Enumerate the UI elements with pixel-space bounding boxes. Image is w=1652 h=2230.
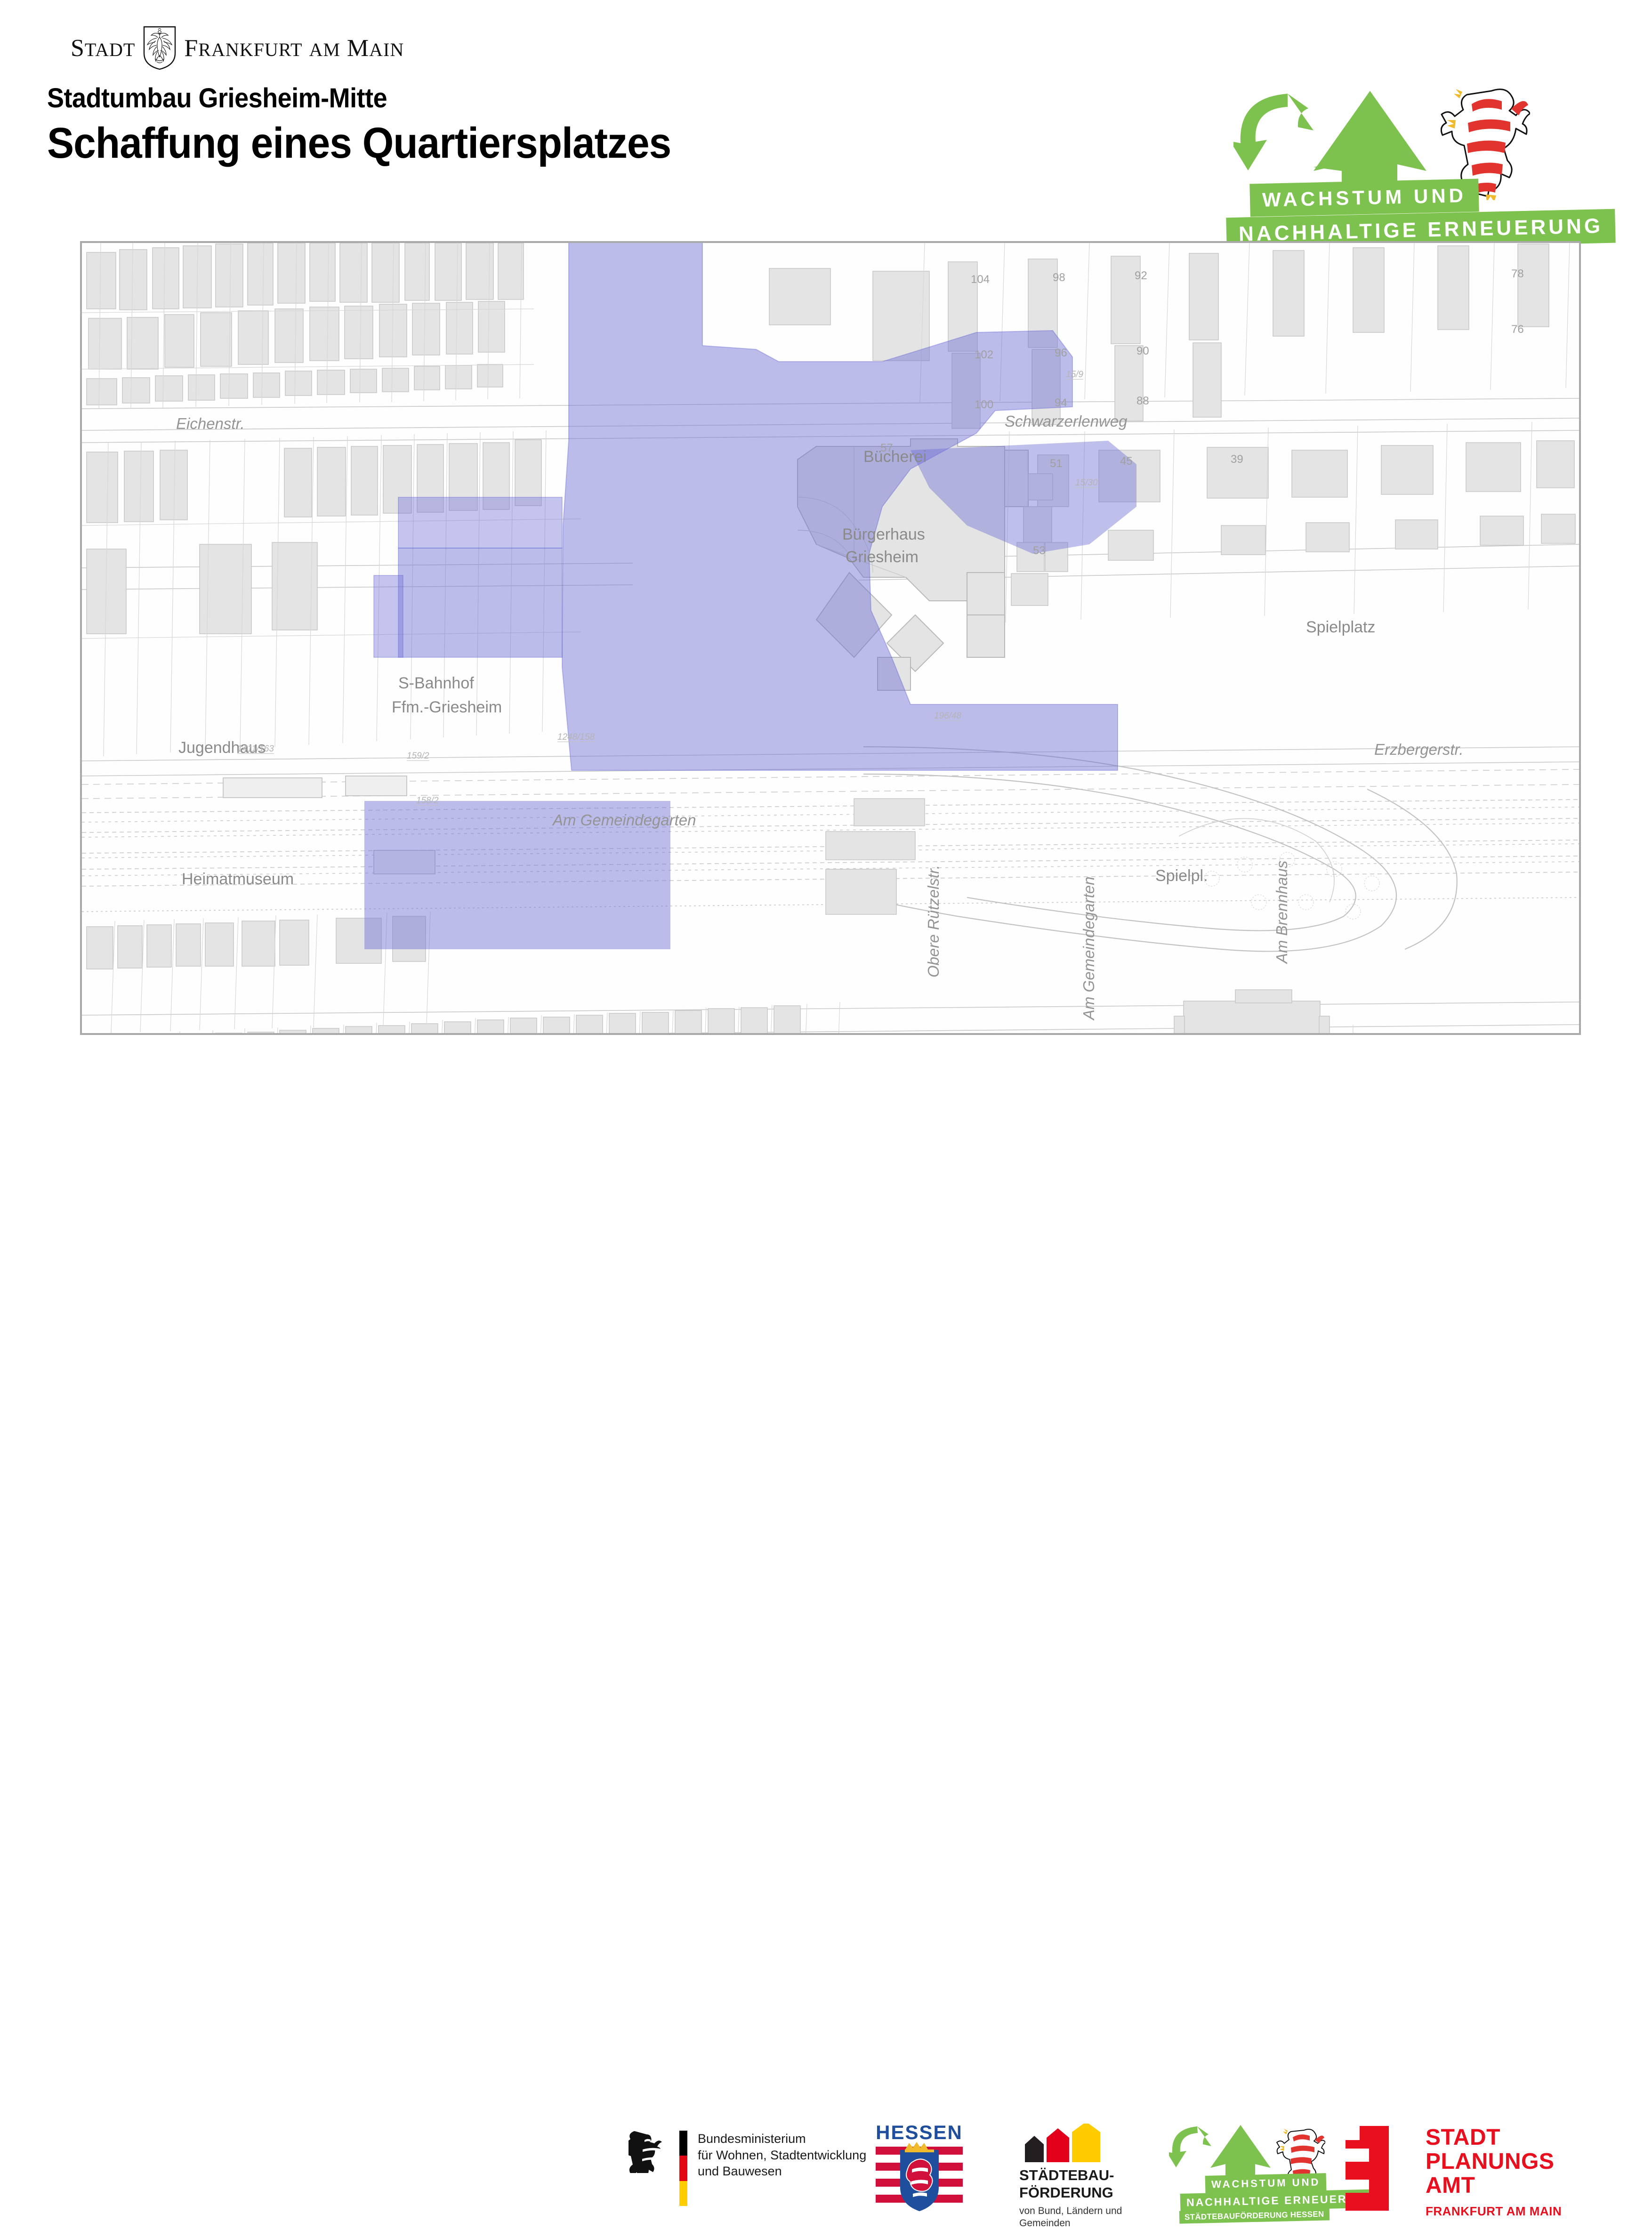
poi-label-griesheim: Griesheim [846, 548, 919, 566]
poi-label-buergerhaus: Bürgerhaus [842, 525, 925, 544]
house-number: 100 [975, 398, 993, 412]
three-houses-icon [1022, 2124, 1142, 2162]
stadtplanungsamt-block-mark-icon [1337, 2126, 1408, 2211]
parcel-fraction: 1248/158 [557, 733, 595, 742]
house-number: 90 [1136, 345, 1149, 358]
street-label-schwarzerlenweg: Schwarzerlenweg [1005, 412, 1127, 430]
street-label-erzbergerstr: Erzbergerstr. [1374, 741, 1464, 759]
staedtebaufoerderung-logo: STÄDTEBAU- FÖRDERUNG von Bund, Ländern u… [1019, 2124, 1142, 2230]
parcel-fraction: 159/2 [407, 751, 429, 761]
map-canvas [82, 243, 1579, 1033]
poi-label-spielplatz: Spielplatz [1306, 618, 1375, 637]
city-logo-text-right: FRANKFURT AM MAIN [184, 34, 404, 62]
wachstum-small-band-1: WACHSTUM UND [1205, 2173, 1327, 2193]
spa-subline: FRANKFURT AM MAIN [1426, 2204, 1562, 2219]
house-number: 45 [1120, 455, 1133, 468]
city-logo-text-left: STADT [71, 34, 135, 62]
poi-label-s-bahnhof: S-Bahnhof [398, 674, 474, 693]
stadtplanungsamt-logo: STADT PLANUNGS AMT FRANKFURT AM MAIN [1337, 2126, 1562, 2219]
house-number: 102 [975, 348, 993, 362]
footer-logo-bar: Bundesministerium für Wohnen, Stadtentwi… [0, 1055, 1652, 1168]
parcel-fraction-num: 159/2 [407, 751, 429, 761]
city-logo: STADT [71, 26, 404, 70]
spa-line-2: PLANUNGS [1426, 2149, 1554, 2174]
wachstum-erneuerung-logo-small: WACHSTUM UND NACHHALTIGE ERNEUERUNG STÄD… [1160, 2124, 1349, 2218]
poi-label-heimatmuseum: Heimatmuseum [182, 870, 294, 889]
parcel-fraction-num: 15/30 [1075, 478, 1098, 488]
page-title: Schaffung eines Quartiersplatzes [47, 119, 671, 168]
bmwsb-logo: Bundesministerium für Wohnen, Stadtentwi… [629, 2131, 866, 2206]
house-number: 94 [1055, 396, 1067, 410]
house-number: 39 [1231, 453, 1243, 466]
house-number: 57 [880, 442, 893, 455]
parcel-fraction: 158/2 [416, 796, 439, 806]
wachstum-band-1: WACHSTUM UND [1249, 178, 1479, 217]
poi-label-buecherei: Bücherei [863, 448, 927, 466]
street-label-am-gemeindegarten: Am Gemeindegarten [553, 811, 696, 829]
stadtplanungsamt-wordmark: STADT PLANUNGS AMT FRANKFURT AM MAIN [1426, 2126, 1562, 2219]
parcel-fraction-num: 1248/158 [557, 733, 595, 742]
page-header: STADT [0, 0, 1652, 235]
house-number: 53 [1033, 544, 1046, 557]
house-number: 92 [1135, 269, 1147, 283]
house-number: 96 [1055, 347, 1067, 360]
street-label-am-brennhaus: Am Brennhaus [1273, 861, 1291, 963]
parcel-fraction-num: 196/48 [934, 711, 961, 721]
parcel-fraction-num: 1411/163 [237, 744, 274, 754]
hessen-logo: HESSEN [876, 2121, 963, 2209]
bmwsb-label: Bundesministerium für Wohnen, Stadtentwi… [698, 2131, 866, 2180]
hessen-label: HESSEN [876, 2121, 963, 2144]
staedtebau-subtitle: von Bund, Ländern und Gemeinden [1019, 2205, 1142, 2230]
wachstum-small-band-3: STÄDTEBAUFÖRDERUNG HESSEN [1179, 2207, 1330, 2223]
frankfurt-eagle-crest-icon [143, 26, 177, 70]
project-subtitle: Stadtumbau Griesheim-Mitte [47, 82, 671, 114]
parcel-fraction-num: 15/9 [1066, 370, 1083, 380]
parcel-fraction-num: 158/2 [416, 796, 439, 806]
title-block: Stadtumbau Griesheim-Mitte Schaffung ein… [47, 82, 718, 168]
cadastral-map[interactable]: Eichenstr. Schwarzerlenweg Erzbergerstr.… [80, 241, 1581, 1035]
poi-label-spielpl: Spielpl. [1155, 867, 1208, 885]
house-number: 88 [1136, 395, 1149, 408]
street-label-am-gemeindegarten-vertical: Am Gemeindegarten [1080, 877, 1098, 1020]
street-label-obere-ruetzelstr: Obere Rützelstr. [925, 865, 943, 978]
bundesadler-icon [629, 2131, 665, 2175]
house-number: 98 [1053, 271, 1065, 284]
house-number: 78 [1511, 267, 1524, 281]
hessen-shield-crest-icon [876, 2147, 963, 2209]
house-number: 51 [1050, 457, 1063, 470]
poi-label-ffm-griesheim: Ffm.-Griesheim [392, 698, 502, 717]
street-label-eichenstr: Eichenstr. [176, 415, 245, 433]
spa-line-3: AMT [1426, 2173, 1475, 2198]
parcel-fraction: 15/9 [1066, 370, 1083, 380]
parcel-fraction: 15/30 [1075, 478, 1098, 488]
parcel-fraction: 1411/163 [237, 744, 274, 754]
german-flag-bar-icon [679, 2131, 687, 2206]
house-number: 104 [971, 273, 990, 286]
staedtebau-title: STÄDTEBAU- FÖRDERUNG [1019, 2167, 1142, 2201]
house-number: 76 [1511, 323, 1524, 336]
spa-line-1: STADT [1426, 2125, 1500, 2150]
parcel-fraction: 196/48 [934, 711, 961, 721]
